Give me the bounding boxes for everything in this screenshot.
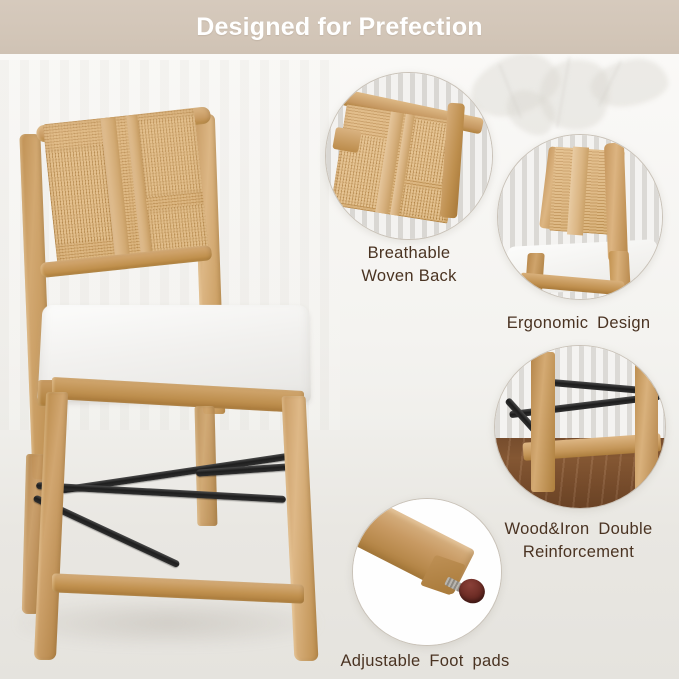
feature-caption-wood-iron-reinforcement: Wood&Iron Double Reinforcement (478, 518, 679, 565)
infographic-canvas: Breathable Woven Back Ergonomic Design W… (0, 0, 679, 679)
page-title: Designed for Prefection (196, 13, 483, 42)
header-banner: Designed for Prefection (0, 0, 679, 54)
weave-block (138, 114, 204, 198)
feature-image-adjustable-foot-pads (352, 498, 502, 646)
feature-caption-adjustable-foot-pads: Adjustable Foot pads (290, 650, 560, 673)
feature-caption-breathable-woven-back: Breathable Woven Back (318, 242, 500, 289)
feature-image-ergonomic-design (497, 134, 663, 300)
chair-front-leg-right (282, 396, 319, 661)
chair-wooden-footrest-bar (52, 573, 304, 603)
inset-chair-leg (531, 352, 555, 492)
inset-wood-tab (332, 127, 361, 153)
weave-block (45, 144, 113, 246)
main-product-image (0, 54, 345, 679)
feature-caption-ergonomic-design: Ergonomic Design (478, 312, 679, 335)
inset-curved-back-post (604, 142, 628, 262)
feature-image-breathable-woven-back (325, 72, 493, 240)
iron-cross-brace (36, 482, 286, 503)
inset-chair-leg (635, 356, 658, 492)
feature-image-wood-iron-reinforcement (494, 345, 666, 509)
